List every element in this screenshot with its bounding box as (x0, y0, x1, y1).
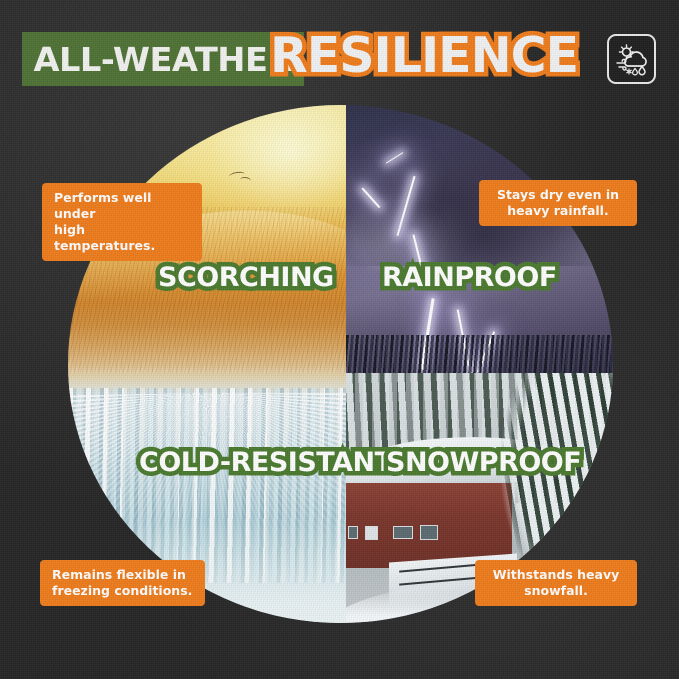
mixed-weather-icon (614, 41, 650, 77)
resilience-label: RESILIENCE (270, 25, 578, 87)
callout-snowproof: Withstands heavy snowfall. (475, 560, 637, 606)
cabin-door (420, 525, 438, 540)
quadrant-title-rainproof: RAINPROOF (382, 262, 557, 293)
cabin-window (348, 526, 359, 540)
cabin-window (393, 526, 412, 540)
callout-scorching: Performs well under high temperatures. (42, 183, 202, 261)
weather-resilience-infographic: ALL-WEATHER RESILIENCE (0, 0, 679, 679)
weather-icon-box (607, 34, 656, 84)
all-weather-label: ALL-WEATHER (33, 40, 292, 79)
quadrant-title-scorching: SCORCHING (158, 262, 334, 293)
header-banner: ALL-WEATHER RESILIENCE (0, 28, 679, 90)
callout-cold-resistant: Remains flexible in freezing conditions. (40, 560, 205, 606)
all-weather-green-block: ALL-WEATHER (22, 32, 304, 86)
tree-line (346, 335, 613, 373)
quadrant-title-cold-resistant: COLD-RESISTANT (139, 447, 393, 478)
quadrant-title-snowproof: SNOWPROOF (386, 447, 581, 478)
callout-rainproof: Stays dry even in heavy rainfall. (479, 180, 637, 226)
quadrant-rainproof (346, 105, 613, 373)
cabin-window (365, 526, 377, 540)
